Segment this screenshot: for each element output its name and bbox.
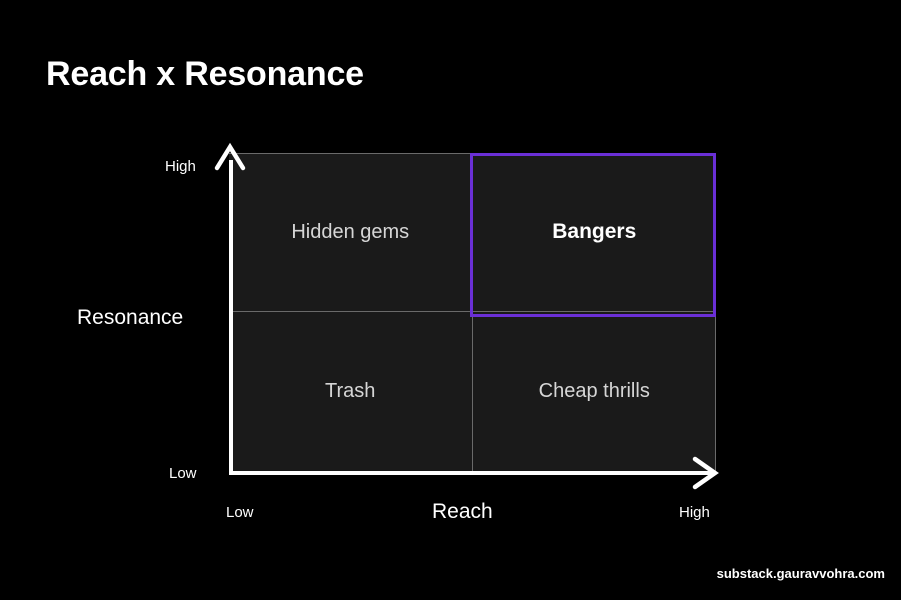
y-axis-high-tick-label: High [165, 158, 196, 175]
footer-attribution: substack.gauravvohra.com [717, 566, 885, 581]
quadrant-cheap-thrills[interactable]: Cheap thrills [473, 312, 717, 471]
quadrant-matrix: Hidden gems Bangers Trash Cheap thrills [229, 153, 716, 471]
quadrant-hidden-gems[interactable]: Hidden gems [229, 153, 473, 312]
quadrant-label-hidden-gems: Hidden gems [291, 221, 409, 244]
y-axis-line [229, 160, 233, 475]
slide-canvas: Reach x Resonance Hidden gems Bangers Tr… [0, 0, 901, 600]
x-axis-line [229, 471, 713, 475]
x-axis-title: Reach [432, 500, 493, 524]
x-axis-high-tick-label: High [679, 504, 710, 521]
quadrant-trash[interactable]: Trash [229, 312, 473, 471]
quadrant-label-bangers: Bangers [552, 220, 636, 244]
page-title: Reach x Resonance [46, 55, 364, 94]
y-axis-low-tick-label: Low [169, 465, 197, 482]
x-axis-low-tick-label: Low [226, 504, 254, 521]
quadrant-label-trash: Trash [325, 380, 375, 403]
quadrant-bangers[interactable]: Bangers [473, 153, 717, 312]
y-axis-title: Resonance [77, 306, 183, 330]
quadrant-label-cheap-thrills: Cheap thrills [539, 380, 650, 403]
